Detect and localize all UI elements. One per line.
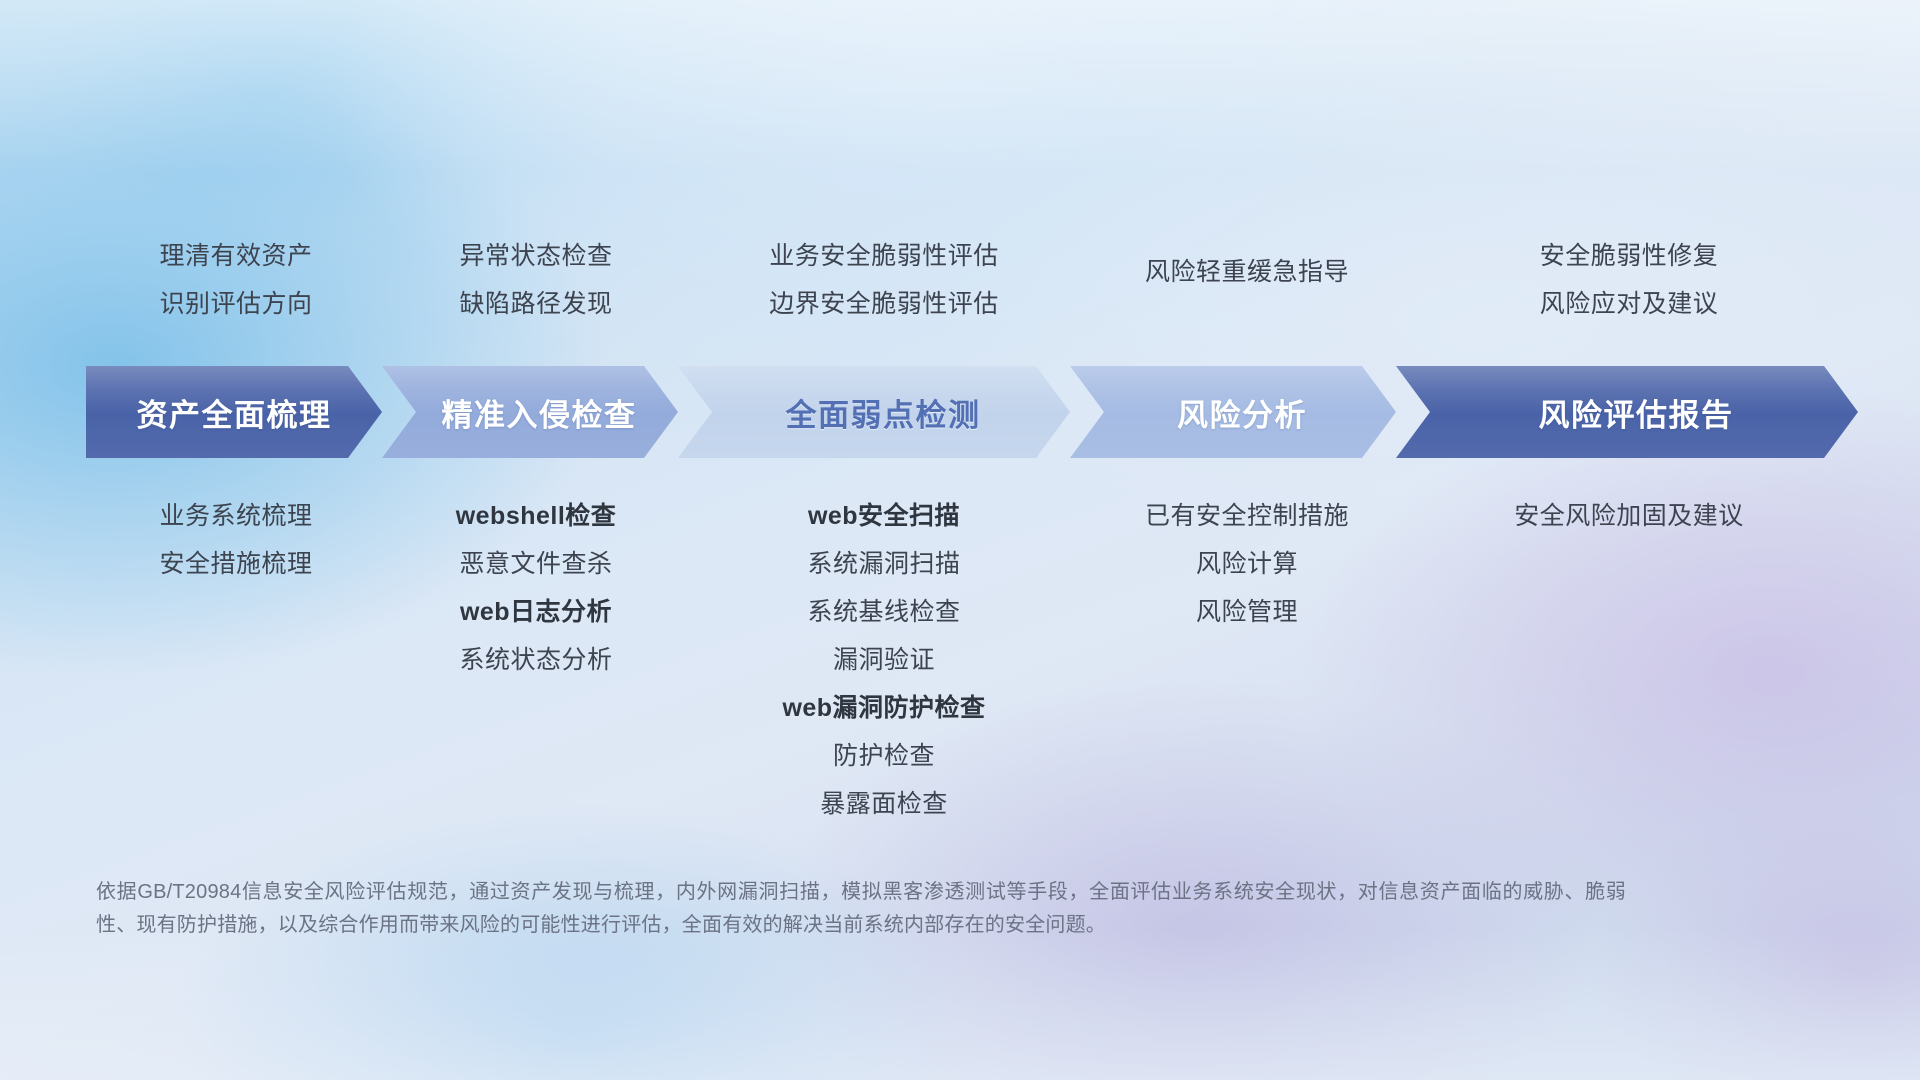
stage-chevron-risk-analysis[interactable]: 风险分析: [1070, 366, 1396, 458]
stage-title: 资产全面梳理: [137, 390, 332, 435]
stage-activities-risk-analysis: 已有安全控制措施风险计算风险管理: [1082, 492, 1412, 828]
stage-activity-item: 漏洞验证: [686, 636, 1082, 684]
stage-activity-item: web安全扫描: [686, 492, 1082, 540]
stage-outcome-item: 安全脆弱性修复: [1412, 232, 1846, 280]
stage-activities-asset-inventory: 业务系统梳理安全措施梳理: [86, 492, 386, 828]
stage-activity-item: 业务系统梳理: [86, 492, 386, 540]
stage-activity-item: 恶意文件查杀: [386, 540, 686, 588]
stage-activities-intrusion-check: webshell检查恶意文件查杀web日志分析系统状态分析: [386, 492, 686, 828]
stage-title: 精准入侵检查: [442, 390, 637, 435]
stage-outcome-item: 异常状态检查: [386, 232, 686, 280]
stage-outcomes-weakness-detection: 业务安全脆弱性评估边界安全脆弱性评估: [686, 232, 1082, 328]
stage-outcomes-risk-report: 安全脆弱性修复风险应对及建议: [1412, 232, 1846, 328]
stage-outcomes-risk-analysis: 风险轻重缓急指导: [1082, 232, 1412, 328]
stage-chevron-intrusion-check[interactable]: 精准入侵检查: [382, 366, 678, 458]
stage-outcome-item: 边界安全脆弱性评估: [686, 280, 1082, 328]
stage-outcomes-intrusion-check: 异常状态检查缺陷路径发现: [386, 232, 686, 328]
stage-activity-item: 风险管理: [1082, 588, 1412, 636]
stage-activity-item: 系统漏洞扫描: [686, 540, 1082, 588]
stage-activity-item: web漏洞防护检查: [686, 684, 1082, 732]
stage-activity-item: 安全措施梳理: [86, 540, 386, 588]
stage-chevron-asset-inventory[interactable]: 资产全面梳理: [86, 366, 382, 458]
stage-outcome-item: 缺陷路径发现: [386, 280, 686, 328]
process-flow-infographic: 理清有效资产识别评估方向异常状态检查缺陷路径发现业务安全脆弱性评估边界安全脆弱性…: [0, 0, 1920, 1080]
stage-activity-item: web日志分析: [386, 588, 686, 636]
footer-description: 依据GB/T20984信息安全风险评估规范，通过资产发现与梳理，内外网漏洞扫描，…: [96, 876, 1626, 942]
stage-activity-item: 系统基线检查: [686, 588, 1082, 636]
stage-activity-item: 风险计算: [1082, 540, 1412, 588]
stage-outcomes-row: 理清有效资产识别评估方向异常状态检查缺陷路径发现业务安全脆弱性评估边界安全脆弱性…: [86, 232, 1846, 328]
stage-outcome-item: 识别评估方向: [86, 280, 386, 328]
stage-outcome-item: 理清有效资产: [86, 232, 386, 280]
stage-title: 风险分析: [1177, 390, 1307, 435]
stage-activities-risk-report: 安全风险加固及建议: [1412, 492, 1846, 828]
stage-activity-item: webshell检查: [386, 492, 686, 540]
stage-activity-item: 安全风险加固及建议: [1412, 492, 1846, 540]
stage-outcome-item: 风险应对及建议: [1412, 280, 1846, 328]
stage-outcomes-asset-inventory: 理清有效资产识别评估方向: [86, 232, 386, 328]
stage-outcome-item: 风险轻重缓急指导: [1082, 248, 1412, 296]
stage-chevron-weakness-detection[interactable]: 全面弱点检测: [678, 366, 1070, 458]
stage-activity-item: 已有安全控制措施: [1082, 492, 1412, 540]
stage-activities-weakness-detection: web安全扫描系统漏洞扫描系统基线检查漏洞验证web漏洞防护检查防护检查暴露面检…: [686, 492, 1082, 828]
stage-title: 全面弱点检测: [786, 390, 981, 435]
stage-activity-item: 暴露面检查: [686, 780, 1082, 828]
stage-activity-item: 防护检查: [686, 732, 1082, 780]
stage-activity-item: 系统状态分析: [386, 636, 686, 684]
stage-title: 风险评估报告: [1539, 390, 1734, 435]
stage-activities-row: 业务系统梳理安全措施梳理webshell检查恶意文件查杀web日志分析系统状态分…: [86, 492, 1846, 828]
stage-chevron-banner: 资产全面梳理精准入侵检查全面弱点检测风险分析风险评估报告: [86, 366, 1858, 458]
stage-chevron-risk-report[interactable]: 风险评估报告: [1396, 366, 1858, 458]
stage-outcome-item: 业务安全脆弱性评估: [686, 232, 1082, 280]
